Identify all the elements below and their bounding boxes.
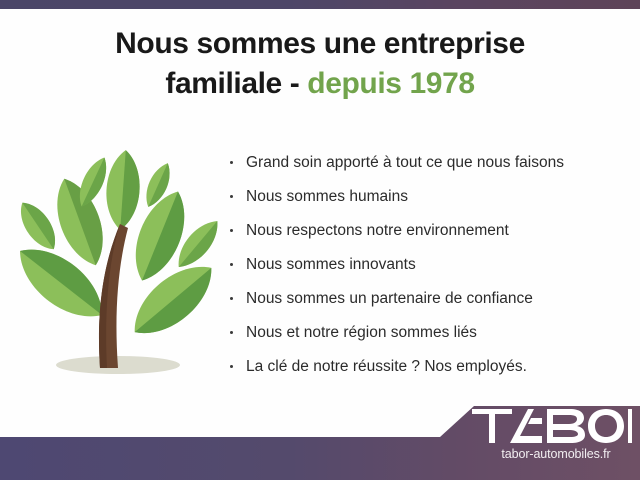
- bullet-dot-icon: [230, 263, 233, 266]
- page-title: Nous sommes une entreprise familiale - d…: [0, 26, 640, 102]
- list-item-label: Nous respectons notre environnement: [246, 222, 509, 239]
- value-list: Grand soin apporté à tout ce que nous fa…: [228, 152, 628, 377]
- headline-line-2-main: familiale -: [165, 67, 299, 100]
- leaf-right-lower: [121, 252, 223, 348]
- list-item-label: Nous sommes innovants: [246, 256, 416, 273]
- tabor-wordmark-icon: [472, 409, 632, 443]
- brand-logo: tabor-automobiles.fr: [472, 409, 640, 471]
- leaf-left-small: [12, 196, 63, 256]
- bullet-dot-icon: [230, 161, 233, 164]
- bullet-dot-icon: [230, 195, 233, 198]
- list-item: Nous sommes innovants: [228, 254, 628, 275]
- slide-canvas: Nous sommes une entreprise familiale - d…: [0, 0, 640, 480]
- list-item: Grand soin apporté à tout ce que nous fa…: [228, 152, 628, 173]
- bullet-dot-icon: [230, 365, 233, 368]
- list-item: La clé de notre réussite ? Nos employés.: [228, 356, 628, 377]
- list-item-label: Nous et notre région sommes liés: [246, 324, 477, 341]
- top-accent-bar: [0, 0, 640, 9]
- list-item-label: La clé de notre réussite ? Nos employés.: [246, 358, 527, 375]
- list-item-label: Grand soin apporté à tout ce que nous fa…: [246, 154, 564, 171]
- bullet-dot-icon: [230, 229, 233, 232]
- list-item-label: Nous sommes un partenaire de confiance: [246, 290, 533, 307]
- tree-illustration: [8, 150, 223, 388]
- bullet-dot-icon: [230, 331, 233, 334]
- leaf-top-center: [104, 150, 143, 231]
- brand-website: tabor-automobiles.fr: [476, 447, 636, 461]
- list-item: Nous et notre région sommes liés: [228, 322, 628, 343]
- headline-line-1: Nous sommes une entreprise: [115, 27, 525, 60]
- list-item-label: Nous sommes humains: [246, 188, 408, 205]
- list-item: Nous sommes humains: [228, 186, 628, 207]
- list-item: Nous respectons notre environnement: [228, 220, 628, 241]
- list-item: Nous sommes un partenaire de confiance: [228, 288, 628, 309]
- bullet-dot-icon: [230, 297, 233, 300]
- tree-shadow: [56, 356, 180, 374]
- headline-accent-year: depuis 1978: [307, 67, 474, 100]
- headline-line-2: familiale - depuis 1978: [0, 66, 640, 102]
